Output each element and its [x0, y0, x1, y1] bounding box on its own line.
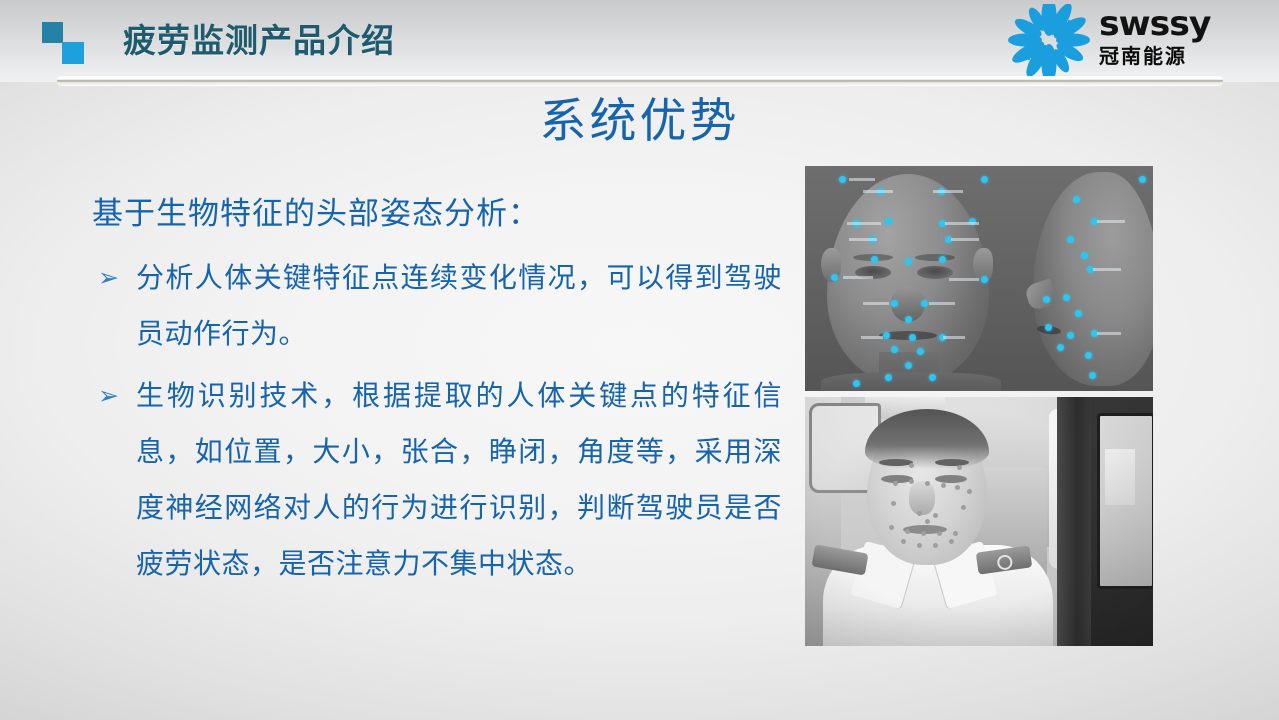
landmark-point — [831, 274, 838, 281]
petal-flower-logo-icon — [1003, 4, 1095, 76]
landmark-point — [905, 258, 912, 265]
landmark-label — [849, 238, 877, 241]
landmark-point — [1139, 176, 1146, 183]
landmark-point — [929, 374, 936, 381]
list-item: ➢ 分析人体关键特征点连续变化情况，可以得到驾驶员动作行为。 — [92, 250, 782, 362]
company-logo: swssy 冠南能源 — [1003, 2, 1261, 78]
landmark-point — [905, 362, 912, 369]
photo-vignette — [805, 397, 1153, 646]
landmark-label — [951, 238, 979, 241]
page-title: 系统优势 — [0, 92, 1279, 150]
bullet-list: ➢ 分析人体关键特征点连续变化情况，可以得到驾驶员动作行为。 ➢ 生物识别技术，… — [92, 250, 782, 592]
landmark-label — [929, 302, 955, 305]
landmark-point — [891, 346, 898, 353]
landmark-point — [1043, 296, 1050, 303]
landmark-label — [843, 276, 873, 279]
header-title: 疲劳监测产品介绍 — [123, 21, 395, 61]
landmark-point — [871, 256, 878, 263]
landmark-point — [981, 276, 988, 283]
landmark-point — [1057, 344, 1064, 351]
landmark-point — [921, 300, 928, 307]
cab-scene — [805, 397, 1153, 646]
landmark-label — [1093, 268, 1121, 271]
landmark-point — [1063, 294, 1070, 301]
right-brow — [915, 254, 955, 261]
landmark-point — [883, 332, 890, 339]
list-item-text: 分析人体关键特征点连续变化情况，可以得到驾驶员动作行为。 — [136, 262, 782, 349]
list-item-text: 生物识别技术，根据提取的人体关键点的特征信息，如位置，大小，张合，睁闭，角度等，… — [136, 380, 782, 579]
arrow-bullet-icon: ➢ — [98, 368, 128, 424]
landmark-point — [891, 300, 898, 307]
landmark-point — [1089, 372, 1096, 379]
profile-head-model — [1033, 172, 1153, 386]
landmark-point — [885, 374, 892, 381]
landmark-point — [839, 176, 846, 183]
landmark-point — [981, 176, 988, 183]
landmark-point — [1075, 310, 1082, 317]
front-shoulders — [821, 372, 1001, 391]
landmark-point — [885, 218, 892, 225]
landmark-point — [917, 348, 924, 355]
landmark-label — [861, 336, 883, 339]
landmark-point — [1067, 236, 1074, 243]
header-decoration-squares — [42, 22, 90, 64]
landmark-label — [1097, 332, 1121, 335]
landmark-point — [1073, 196, 1080, 203]
landmark-label — [943, 336, 965, 339]
logo-subtitle: 冠南能源 — [1099, 44, 1259, 70]
head-model-scene — [805, 166, 1153, 391]
presentation-slide: 疲劳监测产品介绍 — [0, 0, 1279, 720]
driver-cab-fatigue-photo-image — [805, 397, 1153, 646]
landmark-label — [849, 178, 875, 181]
landmark-point — [1081, 252, 1088, 259]
media-column — [805, 166, 1153, 646]
landmark-label — [1097, 220, 1125, 223]
logo-wordmark: swssy — [1099, 6, 1262, 42]
arrow-bullet-icon: ➢ — [98, 250, 128, 306]
landmark-point — [1085, 352, 1092, 359]
decoration-square-dark — [42, 22, 63, 43]
logo-text-block: swssy 冠南能源 — [1099, 6, 1259, 70]
landmark-point — [905, 316, 912, 323]
landmark-point — [909, 334, 916, 341]
landmark-point — [1067, 332, 1074, 339]
landmark-point — [939, 256, 946, 263]
landmark-point — [853, 380, 860, 387]
landmark-label — [863, 190, 893, 193]
decoration-square-light — [62, 42, 84, 64]
landmark-label — [945, 222, 979, 225]
lead-heading: 基于生物特征的头部姿态分析： — [92, 192, 782, 236]
landmark-label — [847, 222, 881, 225]
landmark-label — [949, 278, 979, 281]
landmark-label — [863, 302, 889, 305]
face-landmark-3d-model-image — [805, 166, 1153, 391]
landmark-label — [933, 190, 963, 193]
body-text-column: 基于生物特征的头部姿态分析： ➢ 分析人体关键特征点连续变化情况，可以得到驾驶员… — [92, 192, 782, 598]
right-eye — [917, 266, 953, 279]
list-item: ➢ 生物识别技术，根据提取的人体关键点的特征信息，如位置，大小，张合，睁闭，角度… — [92, 368, 782, 592]
landmark-point — [1045, 324, 1052, 331]
